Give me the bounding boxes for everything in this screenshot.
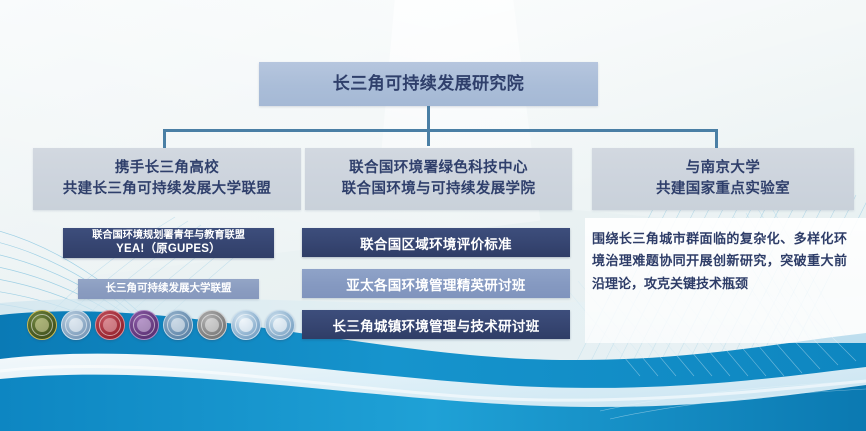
university-logo-7 bbox=[231, 310, 261, 340]
column-1-heading-line2: 共建长三角可持续发展大学联盟 bbox=[63, 179, 272, 200]
university-logo-8 bbox=[265, 310, 295, 340]
column-2-heading-line2: 联合国环境与可持续发展学院 bbox=[342, 179, 536, 200]
item-asia-pacific-workshop[interactable]: 亚太各国环境管理精英研讨班 bbox=[302, 269, 570, 298]
university-logo-2 bbox=[61, 310, 91, 340]
connector-drop-right bbox=[715, 129, 718, 148]
column-3-heading[interactable]: 与南京大学 共建国家重点实验室 bbox=[592, 148, 854, 210]
university-logo-1 bbox=[27, 310, 57, 340]
university-logo-3 bbox=[95, 310, 125, 340]
university-logo-4 bbox=[129, 310, 159, 340]
connector-vertical-stem bbox=[427, 106, 430, 146]
column-1-heading-line1: 携手长三角高校 bbox=[63, 158, 272, 179]
column-3-heading-line1: 与南京大学 bbox=[656, 158, 790, 179]
connector-horizontal-bar bbox=[163, 129, 718, 132]
slide-canvas: 长三角可持续发展研究院 携手长三角高校 共建长三角可持续发展大学联盟 联合国环境… bbox=[0, 0, 866, 431]
column-3-paragraph: 围绕长三角城市群面临的复杂化、多样化环境治理难题协同开展创新研究，突破重大前沿理… bbox=[592, 228, 847, 295]
root-node-institute[interactable]: 长三角可持续发展研究院 bbox=[259, 62, 598, 106]
item-yea-alliance[interactable]: 联合国环境规划署青年与教育联盟 YEA!（原GUPES） bbox=[63, 228, 274, 258]
item-university-alliance[interactable]: 长三角可持续发展大学联盟 bbox=[78, 279, 259, 299]
item-yea-alliance-line2: YEA!（原GUPES） bbox=[116, 242, 221, 257]
column-3-heading-line2: 共建国家重点实验室 bbox=[656, 179, 790, 200]
item-yea-alliance-line1: 联合国环境规划署青年与教育联盟 bbox=[92, 229, 245, 242]
column-2-heading-line1: 联合国环境署绿色科技中心 bbox=[342, 158, 536, 179]
org-chart: 长三角可持续发展研究院 携手长三角高校 共建长三角可持续发展大学联盟 联合国环境… bbox=[0, 0, 866, 431]
item-yangtze-delta-workshop[interactable]: 长三角城镇环境管理与技术研讨班 bbox=[302, 310, 570, 339]
university-logo-row bbox=[27, 310, 295, 340]
university-logo-5 bbox=[163, 310, 193, 340]
connector-drop-left bbox=[163, 129, 166, 148]
university-logo-6 bbox=[197, 310, 227, 340]
item-un-regional-standard[interactable]: 联合国区域环境评价标准 bbox=[302, 228, 570, 257]
column-2-heading[interactable]: 联合国环境署绿色科技中心 联合国环境与可持续发展学院 bbox=[305, 148, 572, 210]
column-1-heading[interactable]: 携手长三角高校 共建长三角可持续发展大学联盟 bbox=[33, 148, 301, 210]
